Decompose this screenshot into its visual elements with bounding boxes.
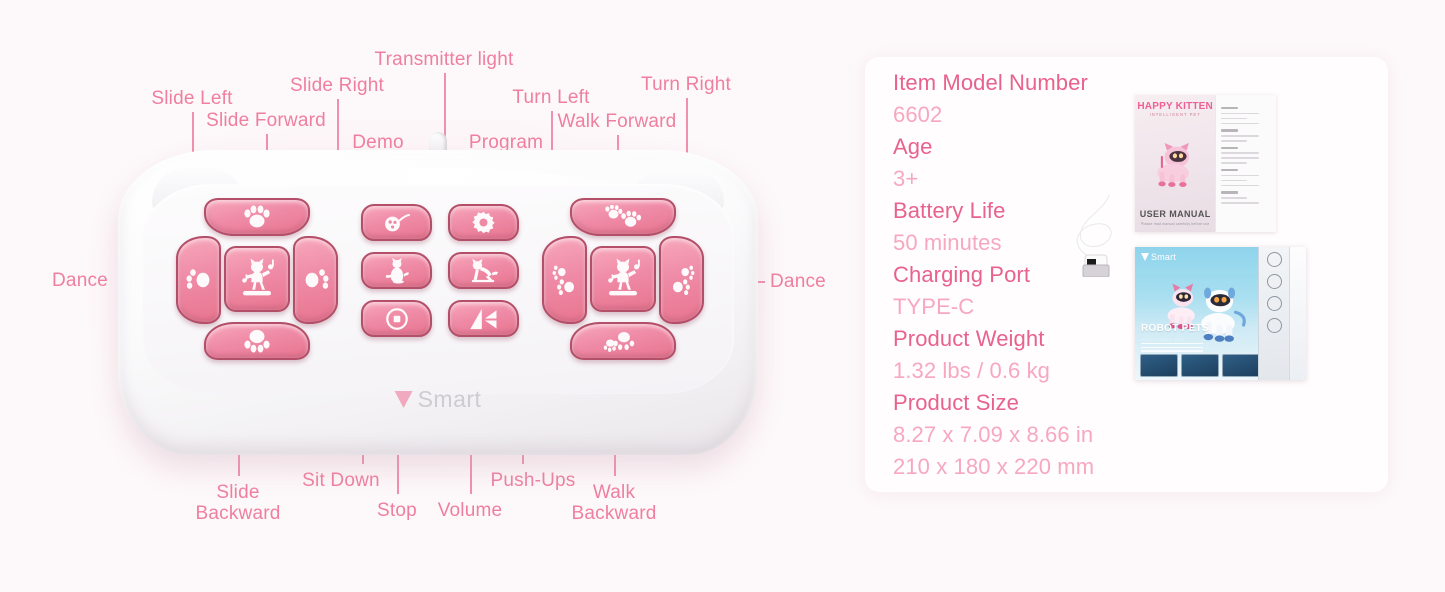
paw-right-icon: [303, 269, 329, 291]
retail-box-spine: [1289, 247, 1306, 380]
volume-icon: [469, 308, 499, 330]
double-paw-right-icon: [669, 264, 695, 296]
retail-box-feature-thumbnails: [1140, 354, 1260, 377]
retail-box-title: ROBOT PETS: [1141, 323, 1209, 334]
sit-down-button[interactable]: [361, 252, 432, 289]
remote-control: Smart: [118, 150, 758, 455]
spec-key-model: Item Model Number: [893, 67, 1143, 99]
sitting-cat-icon: [383, 258, 410, 284]
spec-key-product-weight: Product Weight: [893, 323, 1143, 355]
spec-panel: Item Model Number 6602 Age 3+ Battery Li…: [865, 57, 1388, 492]
label-slide-forward: Slide Forward: [206, 110, 326, 131]
double-paw-icon: [603, 205, 643, 229]
retail-box-side-icons: [1258, 247, 1289, 380]
double-paw-down-icon: [603, 329, 643, 353]
feature-icon-3: [1267, 296, 1282, 311]
label-push-ups: Push-Ups: [490, 470, 575, 491]
pushup-cat-icon: [469, 258, 499, 283]
label-turn-left: Turn Left: [512, 87, 589, 108]
program-button[interactable]: [448, 204, 519, 241]
label-walk-forward: Walk Forward: [558, 111, 677, 132]
paw-left-icon: [186, 269, 212, 291]
spec-value-product-size-in: 8.27 x 7.09 x 8.66 in: [893, 419, 1143, 451]
manual-cover: HAPPY KITTEN INTELLIGENT PET USER MANUAL…: [1135, 95, 1215, 232]
spec-value-model: 6602: [893, 99, 1143, 131]
feature-icon-1: [1267, 252, 1282, 267]
user-manual-image: HAPPY KITTEN INTELLIGENT PET USER MANUAL…: [1135, 95, 1276, 232]
spec-value-charging-port: TYPE-C: [893, 291, 1143, 323]
manual-inner-page: [1215, 95, 1276, 232]
yarn-ball-icon: [383, 213, 411, 233]
remote-brand-logo: Smart: [395, 386, 482, 413]
turn-right-button[interactable]: [659, 236, 704, 324]
brand-name: Smart: [418, 386, 482, 413]
paw-down-icon: [242, 329, 272, 353]
stop-circle-icon: [386, 308, 408, 330]
push-ups-button[interactable]: [448, 252, 519, 289]
retail-box-front: Smart: [1135, 247, 1258, 380]
remote-diagram: Slide Left Slide Forward Slide Right Tra…: [0, 0, 860, 592]
usb-cable-image: [1065, 173, 1127, 277]
dance-right-button[interactable]: [590, 246, 656, 312]
spec-value-product-weight: 1.32 lbs / 0.6 kg: [893, 355, 1143, 387]
label-dance-right: Dance: [770, 271, 826, 292]
dance-left-button[interactable]: [224, 246, 290, 312]
demo-button[interactable]: [361, 204, 432, 241]
walk-forward-button[interactable]: [570, 198, 676, 236]
label-transmitter-light: Transmitter light: [375, 49, 514, 70]
manual-footer-sub: Please read manual carefully before use: [1135, 222, 1215, 226]
gear-icon: [472, 211, 495, 234]
brand-triangle-icon: [395, 391, 413, 408]
retail-box-subtitle: INTELLIGENT PET: [1141, 337, 1185, 342]
spec-value-product-size-mm: 210 x 180 x 220 mm: [893, 451, 1143, 483]
slide-right-button[interactable]: [293, 236, 338, 324]
spec-key-product-size: Product Size: [893, 387, 1143, 419]
leader-transmitter-light: [444, 73, 446, 143]
dancing-cat-icon: [601, 258, 645, 300]
manual-subtitle: INTELLIGENT PET: [1135, 112, 1215, 117]
volume-button[interactable]: [448, 300, 519, 337]
label-sit-down: Sit Down: [302, 470, 380, 491]
feature-icon-2: [1267, 274, 1282, 289]
manual-title: HAPPY KITTEN: [1135, 101, 1215, 112]
walk-backward-button[interactable]: [570, 322, 676, 360]
retail-box-logo: Smart: [1141, 252, 1176, 262]
manual-footer: USER MANUAL: [1135, 209, 1215, 219]
slide-forward-button[interactable]: [204, 198, 310, 236]
label-turn-right: Turn Right: [641, 74, 731, 95]
spec-key-age: Age: [893, 131, 1143, 163]
slide-left-button[interactable]: [176, 236, 221, 324]
retail-box-blurb: [1141, 343, 1203, 354]
dancing-cat-icon: [235, 258, 279, 300]
label-slide-right: Slide Right: [290, 75, 384, 96]
label-dance-left: Dance: [52, 270, 108, 291]
feature-icon-4: [1267, 318, 1282, 333]
label-slide-backward: Slide Backward: [195, 482, 280, 524]
slide-backward-button[interactable]: [204, 322, 310, 360]
retail-box-brand: Smart: [1151, 252, 1176, 262]
label-volume: Volume: [438, 500, 503, 521]
label-slide-left: Slide Left: [151, 88, 232, 109]
paw-icon: [242, 205, 272, 229]
label-walk-backward: Walk Backward: [571, 482, 656, 524]
turn-left-button[interactable]: [542, 236, 587, 324]
retail-box-image: Smart: [1135, 247, 1306, 380]
stop-button[interactable]: [361, 300, 432, 337]
label-stop: Stop: [377, 500, 417, 521]
double-paw-left-icon: [552, 264, 578, 296]
kitten-robot-photo: [1145, 128, 1206, 202]
brand-triangle-icon: [1141, 253, 1149, 261]
